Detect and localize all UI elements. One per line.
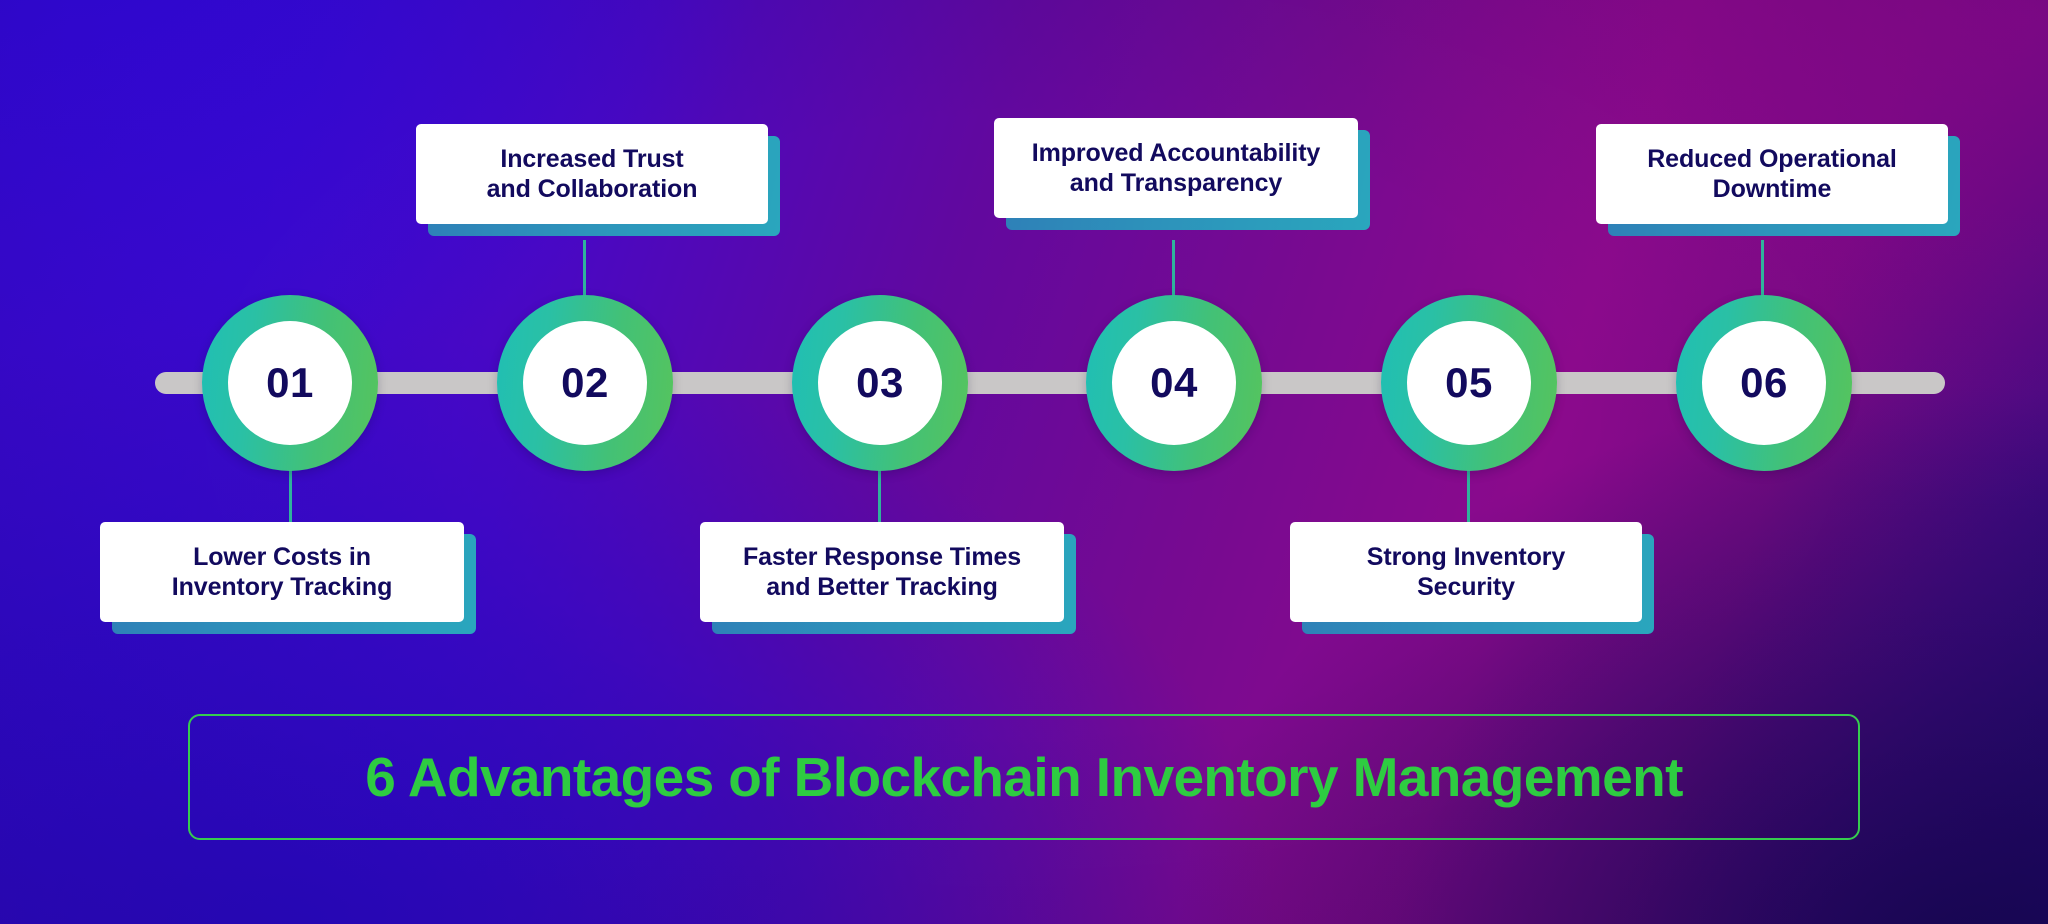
node-04[interactable]: 04 bbox=[1086, 295, 1262, 471]
title-banner: 6 Advantages of Blockchain Inventory Man… bbox=[188, 714, 1860, 840]
card-label-02: Increased Trust and Collaboration bbox=[487, 144, 698, 205]
card-label-06: Reduced Operational Downtime bbox=[1647, 144, 1897, 205]
card-01[interactable]: Lower Costs in Inventory Tracking bbox=[100, 522, 464, 622]
node-01[interactable]: 01 bbox=[202, 295, 378, 471]
card-04[interactable]: Improved Accountability and Transparency bbox=[994, 118, 1358, 218]
card-body-02[interactable]: Increased Trust and Collaboration bbox=[416, 124, 768, 224]
node-number-01: 01 bbox=[266, 362, 314, 404]
node-number-04: 04 bbox=[1150, 362, 1198, 404]
node-inner-05: 05 bbox=[1407, 321, 1531, 445]
card-label-04: Improved Accountability and Transparency bbox=[1032, 138, 1320, 199]
card-label-01: Lower Costs in Inventory Tracking bbox=[172, 542, 393, 603]
node-inner-06: 06 bbox=[1702, 321, 1826, 445]
card-body-06[interactable]: Reduced Operational Downtime bbox=[1596, 124, 1948, 224]
infographic-stage: Lower Costs in Inventory Tracking 01 Inc… bbox=[0, 0, 2048, 924]
card-02[interactable]: Increased Trust and Collaboration bbox=[416, 124, 768, 224]
card-label-05: Strong Inventory Security bbox=[1367, 542, 1565, 603]
node-05[interactable]: 05 bbox=[1381, 295, 1557, 471]
card-label-03: Faster Response Times and Better Trackin… bbox=[743, 542, 1021, 603]
node-number-06: 06 bbox=[1740, 362, 1788, 404]
node-03[interactable]: 03 bbox=[792, 295, 968, 471]
node-inner-04: 04 bbox=[1112, 321, 1236, 445]
node-inner-01: 01 bbox=[228, 321, 352, 445]
node-02[interactable]: 02 bbox=[497, 295, 673, 471]
card-05[interactable]: Strong Inventory Security bbox=[1290, 522, 1642, 622]
node-number-02: 02 bbox=[561, 362, 609, 404]
node-inner-03: 03 bbox=[818, 321, 942, 445]
card-body-05[interactable]: Strong Inventory Security bbox=[1290, 522, 1642, 622]
node-inner-02: 02 bbox=[523, 321, 647, 445]
node-number-05: 05 bbox=[1445, 362, 1493, 404]
card-body-04[interactable]: Improved Accountability and Transparency bbox=[994, 118, 1358, 218]
card-body-03[interactable]: Faster Response Times and Better Trackin… bbox=[700, 522, 1064, 622]
card-06[interactable]: Reduced Operational Downtime bbox=[1596, 124, 1948, 224]
node-06[interactable]: 06 bbox=[1676, 295, 1852, 471]
card-body-01[interactable]: Lower Costs in Inventory Tracking bbox=[100, 522, 464, 622]
page-title: 6 Advantages of Blockchain Inventory Man… bbox=[365, 750, 1683, 805]
card-03[interactable]: Faster Response Times and Better Trackin… bbox=[700, 522, 1064, 622]
node-number-03: 03 bbox=[856, 362, 904, 404]
